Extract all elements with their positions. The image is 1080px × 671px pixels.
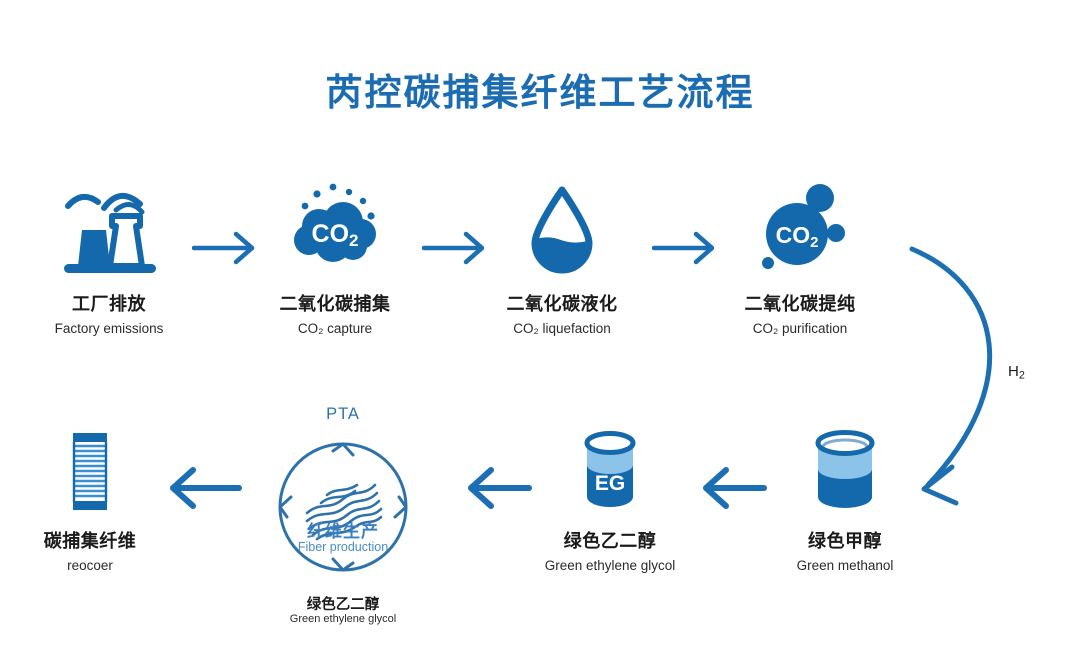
fiber-input-label-en: Green ethylene glycol: [243, 613, 443, 625]
fiber-spool-icon: [0, 425, 180, 517]
node-label-cn: 绿色乙二醇: [520, 527, 700, 553]
co2-cloud-icon: CO2: [245, 180, 425, 280]
hydrogen-label-sub: 2: [1019, 369, 1025, 381]
node-label-en: reocoer: [0, 558, 180, 573]
node-label-en: CO₂ liquefaction: [472, 321, 652, 336]
fiber-production-cycle-icon: [263, 427, 423, 587]
fiber-input-label-cn: 绿色乙二醇: [243, 593, 443, 614]
node-label-en: Factory emissions: [19, 321, 199, 336]
node-label-en: Green methanol: [755, 558, 935, 573]
node-co2-capture[interactable]: CO2 二氧化碳捕集 CO₂ capture: [245, 180, 425, 336]
eg-tank-icon: EG: [520, 425, 700, 517]
node-label-en: CO₂ purification: [710, 321, 890, 336]
node-carbon-capture-fiber[interactable]: 碳捕集纤维 reocoer: [0, 425, 180, 573]
methanol-tank-icon: [755, 425, 935, 517]
diagram-canvas: 芮控碳捕集纤维工艺流程 工厂排放 Factory emissions: [0, 0, 1080, 671]
co2-molecule-icon: CO2: [710, 180, 890, 280]
fiber-production-label-cn: 纤维生产: [263, 517, 423, 542]
node-label-en: Green ethylene glycol: [520, 558, 700, 573]
node-factory-emissions[interactable]: 工厂排放 Factory emissions: [19, 180, 199, 336]
arrow-eg-to-fiber-production: [453, 462, 533, 519]
eg-tank-text: EG: [595, 472, 625, 495]
pta-label: PTA: [263, 405, 423, 424]
arrow-methanol-to-eg: [688, 462, 768, 519]
node-label-cn: 绿色甲醇: [755, 527, 935, 553]
node-green-ethylene-glycol[interactable]: EG 绿色乙二醇 Green ethylene glycol: [520, 425, 700, 573]
node-label-cn: 二氧化碳液化: [472, 290, 652, 316]
hydrogen-label-base: H: [1008, 363, 1019, 380]
node-label-cn: 碳捕集纤维: [0, 527, 180, 553]
hydrogen-label: H2: [1008, 363, 1025, 381]
node-label-cn: 工厂排放: [19, 290, 199, 316]
node-label-en: CO₂ capture: [245, 321, 425, 336]
page-title: 芮控碳捕集纤维工艺流程: [0, 62, 1080, 116]
node-green-methanol[interactable]: 绿色甲醇 Green methanol: [755, 425, 935, 573]
node-co2-purification[interactable]: CO2 二氧化碳提纯 CO₂ purification: [710, 180, 890, 336]
fiber-production-label-en: Fiber production: [263, 540, 423, 554]
node-co2-liquefaction[interactable]: 二氧化碳液化 CO₂ liquefaction: [472, 180, 652, 336]
factory-smokestack-icon: [19, 180, 199, 280]
liquid-droplet-icon: [472, 180, 652, 280]
node-label-cn: 二氧化碳提纯: [710, 290, 890, 316]
node-label-cn: 二氧化碳捕集: [245, 290, 425, 316]
